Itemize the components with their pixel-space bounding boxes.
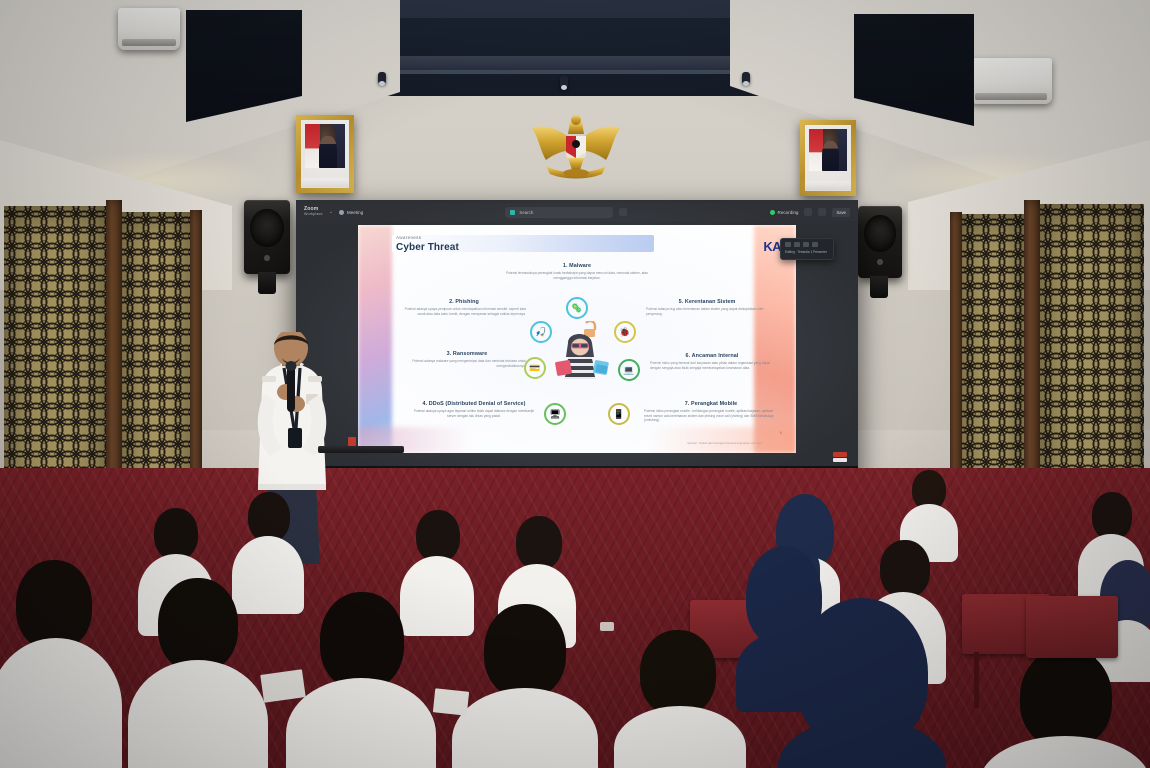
audience-member-front (452, 604, 598, 768)
audio-speaker-right (858, 206, 902, 278)
threat-icon-perangkat-mobile: 📱 (608, 403, 630, 425)
toolbar-chevron-down-icon[interactable]: ⌄ (329, 209, 333, 215)
threat-icon-phishing: 🎣 (530, 321, 552, 343)
threat-body: Potensi risiko perangkat mobile : kehila… (644, 409, 778, 422)
floor-marker (600, 622, 614, 631)
kerentanan-glyph: 🐞 (619, 328, 630, 337)
chair (1026, 596, 1118, 658)
ransomware-glyph: 💳 (529, 364, 540, 373)
meeting-tab[interactable]: Meeting (339, 210, 363, 215)
head (16, 560, 92, 650)
air-conditioner-unit (970, 58, 1052, 104)
malware-glyph: 🦠 (571, 304, 582, 313)
presentation-display: Zoom Workplace ⌄ Meeting Search Record (296, 200, 858, 488)
portrait-caption-right (805, 181, 851, 190)
shoulders (0, 638, 122, 768)
slide-footer-note: Sumber : Diolah dari berbagai referensi … (687, 441, 762, 445)
shoulders (614, 706, 746, 768)
slide-canvas: Awareness Cyber Threat KAi 1. Malware Po… (358, 225, 796, 453)
audience-member-front (128, 578, 268, 768)
garuda-pancasila-emblem (524, 112, 628, 184)
phishing-glyph: 🎣 (535, 328, 546, 337)
stop-recording-button[interactable] (818, 208, 826, 216)
threat-item-malware: 1. Malware Potensi termasuknya perangkat… (504, 263, 650, 280)
slide-page-number: 6 (780, 430, 782, 435)
threat-icon-kerentanan-sistem: 🐞 (614, 321, 636, 343)
kai-logo-ka: KA (763, 239, 781, 254)
ceiling-spotlight (560, 76, 568, 88)
chair-leg (974, 652, 979, 708)
display-screen-surface: Zoom Workplace ⌄ Meeting Search Record (296, 200, 858, 488)
shoulders (128, 660, 268, 768)
head (248, 492, 290, 542)
president-portrait-photo (305, 124, 345, 168)
threat-heading: 2. Phishing (402, 299, 526, 306)
threat-body: Potensi adanya malware yang mengenkripsi… (408, 359, 526, 368)
portrait-caption-left (301, 178, 349, 187)
audience-member-front (0, 560, 122, 768)
head (416, 510, 460, 562)
threat-item-perangkat-mobile: 7. Perangkat Mobile Potensi risiko peran… (644, 401, 778, 422)
threat-heading: 7. Perangkat Mobile (644, 401, 778, 408)
search-input[interactable]: Search (505, 207, 613, 218)
threat-body: Potensi termasuknya perangkat lunak berb… (504, 271, 650, 280)
meeting-room-photo: Zoom Workplace ⌄ Meeting Search Record (0, 0, 1150, 768)
slide-gradient-bottom (358, 427, 796, 453)
threat-body: Potensi adanya bug atau kerentanan dalam… (646, 307, 768, 316)
notebook-paper (433, 688, 469, 715)
audience-member-front (614, 630, 746, 768)
audience-member-front (980, 648, 1150, 768)
threat-item-ancaman-internal: 6. Ancaman Internal Potensi risiko yang … (650, 353, 774, 370)
meeting-popup-buttons (785, 242, 829, 247)
recording-indicator-icon (770, 210, 775, 215)
meeting-control-popup[interactable]: Editing · Tersedia 1 Presenter (780, 238, 834, 260)
threat-item-kerentanan-sistem: 5. Kerentanan Sistem Potensi adanya bug … (646, 299, 768, 316)
ancaman-internal-glyph: 💻 (623, 366, 634, 375)
popup-more-icon[interactable] (812, 242, 818, 247)
search-placeholder-text: Search (519, 210, 533, 215)
notebook-paper (260, 669, 305, 703)
zoom-app-toolbar: Zoom Workplace ⌄ Meeting Search Record (296, 203, 858, 221)
threat-heading: 6. Ancaman Internal (650, 353, 774, 360)
ceiling-spotlight (378, 72, 386, 84)
perangkat-mobile-glyph: 📱 (613, 410, 624, 419)
threat-heading: 1. Malware (504, 263, 650, 270)
threat-icon-ddos: 🖥 (544, 403, 566, 425)
threat-heading: 4. DDoS (Distributed Denial of Service) (410, 401, 538, 408)
threat-heading: 3. Ransomware (408, 351, 526, 358)
head (484, 604, 566, 698)
meeting-icon (339, 210, 344, 215)
popup-participants-icon[interactable] (803, 242, 809, 247)
threat-body: Potensi adanya upaya agar layanan online… (410, 409, 538, 418)
vice-president-portrait-photo (809, 129, 847, 171)
hacker-illustration (554, 321, 610, 383)
table-item-red (348, 437, 356, 446)
slide-eyebrow: Awareness (396, 235, 421, 240)
head (880, 540, 930, 598)
zoom-brand-logo: Zoom Workplace (304, 207, 323, 216)
screen-watermark-logo (832, 450, 848, 462)
shoulders (778, 718, 946, 768)
meeting-tab-label: Meeting (347, 210, 363, 215)
head (158, 578, 238, 672)
head (1020, 648, 1112, 748)
recording-label: Recording (778, 210, 799, 215)
threat-body: Potensi risiko yang berasal dari karyawa… (650, 361, 774, 370)
threat-icon-ransomware: 💳 (524, 357, 546, 379)
slide-gradient-left (358, 225, 392, 453)
threat-item-ransomware: 3. Ransomware Potensi adanya malware yan… (408, 351, 526, 368)
head (320, 592, 404, 690)
slide-title: Cyber Threat (396, 242, 459, 253)
popup-layout-icon[interactable] (785, 242, 791, 247)
shoulders (286, 678, 436, 768)
president-portrait-frame (296, 115, 354, 193)
speaker-bracket-right (870, 276, 888, 298)
threat-item-ddos: 4. DDoS (Distributed Denial of Service) … (410, 401, 538, 418)
shoulders (980, 736, 1150, 768)
presenter-table (318, 446, 404, 453)
threat-heading: 5. Kerentanan Sistem (646, 299, 768, 306)
threat-body: Potensi adanya upaya penipuan untuk mend… (402, 307, 526, 316)
ceiling-spotlight (742, 72, 750, 84)
meeting-popup-caption: Editing · Tersedia 1 Presenter (785, 250, 829, 254)
ddos-glyph: 🖥 (549, 410, 560, 419)
audio-speaker-left (244, 200, 290, 274)
air-conditioner-unit (118, 8, 180, 50)
search-icon (510, 210, 515, 215)
head (154, 508, 198, 560)
speaker-bracket-left (258, 272, 276, 294)
threat-item-phishing: 2. Phishing Potensi adanya upaya penipua… (402, 299, 526, 316)
head (640, 630, 716, 716)
save-button[interactable]: Save (832, 208, 850, 217)
head (516, 516, 562, 570)
popup-share-icon[interactable] (794, 242, 800, 247)
audience-member-front-hijab (778, 598, 946, 768)
recording-status: Recording (770, 210, 799, 215)
threat-icon-malware: 🦠 (566, 297, 588, 319)
vice-president-portrait-frame (800, 120, 856, 196)
head (1092, 492, 1132, 540)
shoulders (452, 688, 598, 768)
toolbar-options-icon[interactable] (619, 208, 627, 216)
pause-recording-button[interactable] (804, 208, 812, 216)
threat-icon-ancaman-internal: 💻 (618, 359, 640, 381)
audience-member-front (286, 592, 436, 768)
zoom-brand-subtext: Workplace (304, 213, 323, 217)
